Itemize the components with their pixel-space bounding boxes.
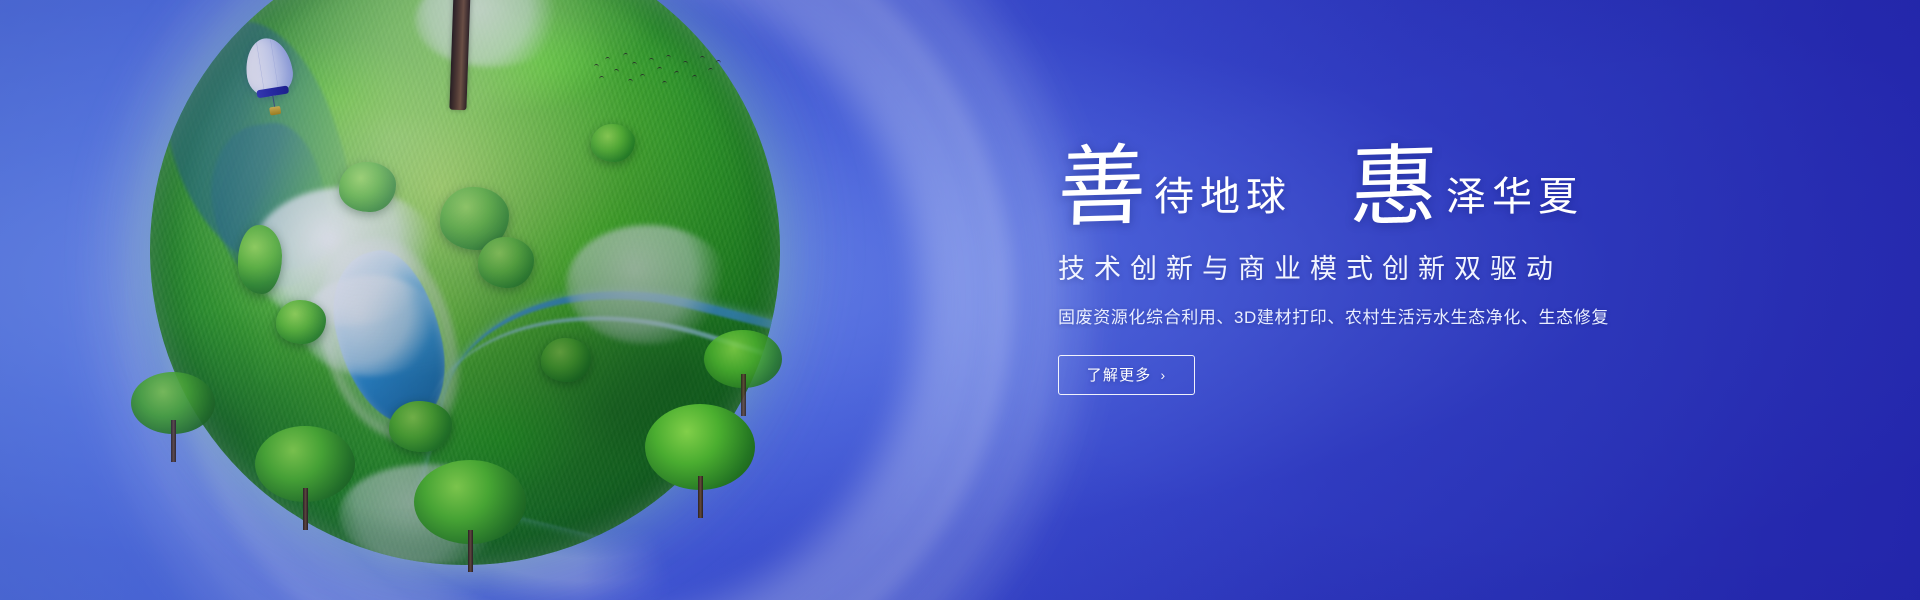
banner-content: 善 待地球 惠 泽华夏 技术创新与商业模式创新双驱动 固废资源化综合利用、3D建… <box>1058 146 1758 395</box>
chevron-right-icon: › <box>1160 367 1166 383</box>
headline-big-char-2: 惠 <box>1349 145 1439 230</box>
learn-more-button[interactable]: 了解更多 › <box>1058 355 1195 395</box>
headline-group-1: 善 待地球 <box>1058 146 1292 229</box>
banner-description: 固废资源化综合利用、3D建材打印、农村生活污水生态净化、生态修复 <box>1058 303 1758 328</box>
headline-rest-1: 待地球 <box>1154 177 1292 229</box>
hero-banner: 善 待地球 惠 泽华夏 技术创新与商业模式创新双驱动 固废资源化综合利用、3D建… <box>0 0 1920 600</box>
headline-group-2: 惠 泽华夏 <box>1350 146 1584 229</box>
banner-subtitle: 技术创新与商业模式创新双驱动 <box>1058 247 1758 286</box>
learn-more-label: 了解更多 <box>1087 364 1152 385</box>
headline-rest-2: 泽华夏 <box>1446 177 1584 229</box>
headline: 善 待地球 惠 泽华夏 <box>1058 146 1758 229</box>
headline-big-char-1: 善 <box>1057 145 1147 230</box>
